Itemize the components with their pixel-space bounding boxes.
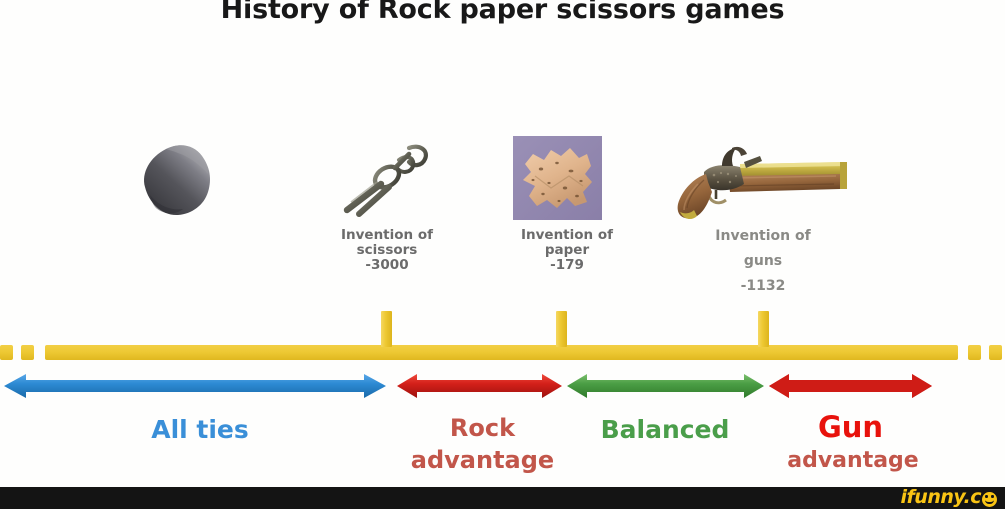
bottom-bar: [0, 487, 1005, 509]
timeline-axis: [45, 345, 958, 360]
paper-event-label: Invention of paper -179: [487, 228, 647, 273]
meme-canvas: History of Rock paper scissors games: [0, 0, 1005, 509]
rock-advantage-arrow: [397, 372, 562, 400]
balanced-label: Balanced: [565, 415, 765, 444]
guns-label-line-2: guns: [683, 249, 843, 274]
all-ties-arrow: [4, 372, 386, 400]
timeline-tick-guns: [758, 311, 769, 347]
timeline-dash-right-inner: [968, 345, 981, 360]
balanced-arrow: [567, 372, 764, 400]
gun-advantage-label-line-1: Gun: [769, 410, 932, 444]
timeline-dash-right-outer: [989, 345, 1002, 360]
guns-label-year: -1132: [683, 274, 843, 299]
scissors-label-year: -3000: [307, 258, 467, 273]
rock-advantage-label-line-2: advantage: [400, 446, 565, 474]
scissors-event-label: Invention of scissors -3000: [307, 228, 467, 273]
gun-advantage-label-line-2: advantage: [763, 448, 943, 473]
gun-advantage-arrow: [769, 372, 932, 400]
timeline-dash-left-inner: [21, 345, 34, 360]
timeline-tick-paper: [556, 311, 567, 347]
flintlock-pistol-image: [668, 142, 848, 224]
smiley-face-icon: [982, 492, 997, 507]
scissors-label-line-1: Invention of: [307, 228, 467, 243]
page-title: History of Rock paper scissors games: [0, 0, 1005, 25]
guns-label-line-1: Invention of: [683, 224, 843, 249]
timeline-tick-scissors: [381, 311, 392, 347]
watermark-text: ifunny.c: [901, 486, 981, 508]
all-ties-label: All ties: [100, 415, 300, 444]
ifunny-watermark: ifunny.c: [901, 486, 997, 508]
scissors-label-line-2: scissors: [307, 243, 467, 258]
rock-advantage-label-line-1: Rock: [400, 414, 565, 442]
paper-label-line-2: paper: [487, 243, 647, 258]
guns-event-label: Invention of guns -1132: [683, 224, 843, 299]
paper-label-year: -179: [487, 258, 647, 273]
paper-label-line-1: Invention of: [487, 228, 647, 243]
rock-image: [128, 135, 223, 225]
timeline-dash-left-outer: [0, 345, 13, 360]
scissors-image: [337, 140, 437, 220]
paper-image: [513, 136, 602, 220]
